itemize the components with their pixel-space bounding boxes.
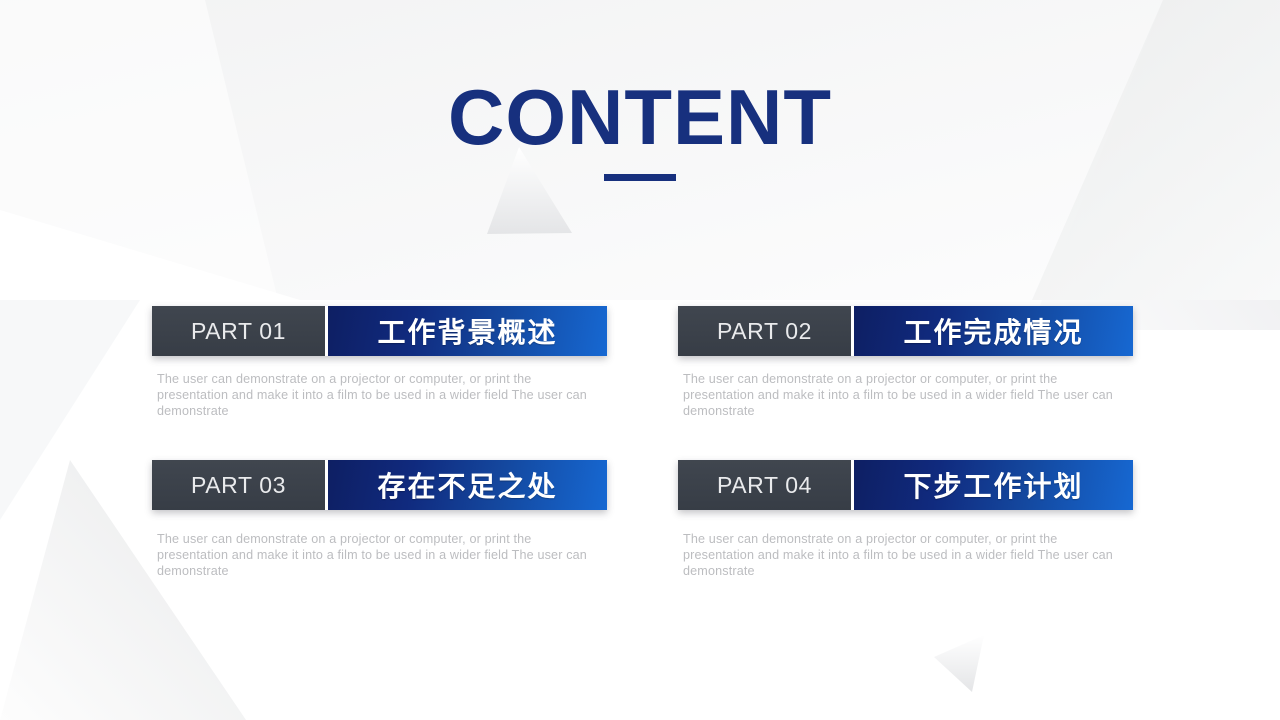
card-label-part-01: PART 01 (152, 306, 325, 356)
slide-canvas: CONTENT PART 01 工作背景概述 The user can demo… (0, 0, 1280, 720)
bg-shape-left-mid (0, 300, 140, 520)
bg-triangle-lower-center (934, 635, 984, 692)
card-body-part-02: The user can demonstrate on a projector … (683, 371, 1115, 419)
page-title-container: CONTENT (0, 78, 1280, 156)
title-underline (604, 174, 676, 181)
page-title: CONTENT (0, 78, 1280, 156)
card-body-part-03: The user can demonstrate on a projector … (157, 531, 589, 579)
card-label-part-04: PART 04 (678, 460, 851, 510)
content-card-part-04[interactable]: PART 04 下步工作计划 (678, 460, 1133, 510)
card-body-part-04: The user can demonstrate on a projector … (683, 531, 1115, 579)
card-label-part-03: PART 03 (152, 460, 325, 510)
card-heading-part-02: 工作完成情况 (854, 306, 1133, 356)
card-heading-part-03: 存在不足之处 (328, 460, 607, 510)
content-card-part-03[interactable]: PART 03 存在不足之处 (152, 460, 607, 510)
card-heading-part-04: 下步工作计划 (854, 460, 1133, 510)
bg-shape-right-diagonal (1030, 0, 1280, 330)
card-heading-part-01: 工作背景概述 (328, 306, 607, 356)
card-label-part-02: PART 02 (678, 306, 851, 356)
card-body-part-01: The user can demonstrate on a projector … (157, 371, 589, 419)
content-card-part-02[interactable]: PART 02 工作完成情况 (678, 306, 1133, 356)
content-card-part-01[interactable]: PART 01 工作背景概述 (152, 306, 607, 356)
